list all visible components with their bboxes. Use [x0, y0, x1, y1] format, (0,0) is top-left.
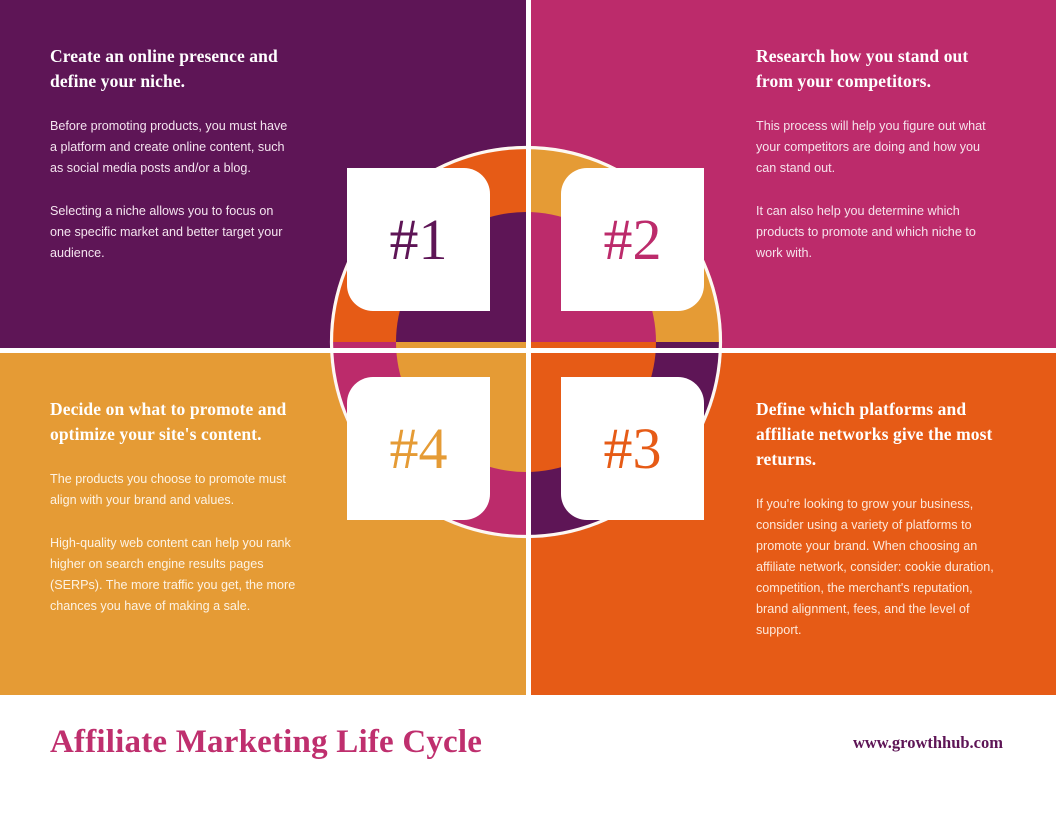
step-1-paragraph-1: Before promoting products, you must have… [50, 116, 293, 179]
step-number-card-4: #4 [347, 377, 490, 520]
step-2-paragraph-1: This process will help you figure out wh… [756, 116, 996, 179]
step-number-card-3: #3 [561, 377, 704, 520]
step-4-heading: Decide on what to promote and optimize y… [50, 397, 300, 447]
step-number-card-2: #2 [561, 168, 704, 311]
step-3-paragraph-1: If you're looking to grow your business,… [756, 494, 1004, 642]
step-3-heading: Define which platforms and affiliate net… [756, 397, 1004, 472]
step-number-4: #4 [390, 420, 448, 478]
footer-title: Affiliate Marketing Life Cycle [50, 724, 482, 761]
step-4-paragraph-2: High-quality web content can help you ra… [50, 533, 298, 618]
step-number-card-1: #1 [347, 168, 490, 311]
step-1-paragraph-2: Selecting a niche allows you to focus on… [50, 201, 293, 264]
footer-url: www.growthhub.com [853, 733, 1003, 753]
step-2-heading: Research how you stand out from your com… [756, 44, 1004, 94]
infographic-canvas: Create an online presence and define you… [0, 0, 1056, 816]
step-number-1: #1 [390, 211, 448, 269]
step-number-3: #3 [604, 420, 662, 478]
step-1-heading: Create an online presence and define you… [50, 44, 300, 94]
divider-horizontal [0, 348, 1056, 353]
quadrant-grid: Create an online presence and define you… [0, 0, 1056, 695]
step-2-paragraph-2: It can also help you determine which pro… [756, 201, 996, 264]
footer-bar: Affiliate Marketing Life Cycle www.growt… [0, 695, 1056, 816]
step-4-paragraph-1: The products you choose to promote must … [50, 469, 298, 511]
step-number-2: #2 [604, 211, 662, 269]
